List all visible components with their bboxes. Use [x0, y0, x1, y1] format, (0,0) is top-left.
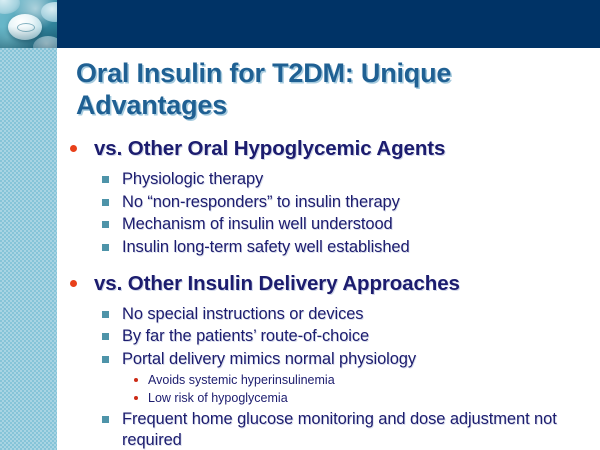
bullet-level1: vs. Other Oral Hypoglycemic Agents	[64, 136, 594, 162]
bullet-level1: vs. Other Insulin Delivery Approaches	[64, 271, 594, 297]
bullet-text: vs. Other Insulin Delivery Approaches	[94, 272, 460, 295]
bullet-text: Low risk of hypoglycemia	[148, 391, 288, 405]
bullet-level3: Avoids systemic hyperinsulinemia	[64, 372, 594, 389]
bullet-text: No “non-responders” to insulin therapy	[122, 193, 400, 211]
bullet-level2: No “non-responders” to insulin therapy	[64, 192, 594, 214]
bullet-square-icon	[102, 311, 109, 318]
bullet-text: Avoids systemic hyperinsulinemia	[148, 373, 335, 387]
slide: Oral Insulin for T2DM: Unique Advantages…	[0, 0, 600, 450]
bullet-square-icon	[102, 176, 109, 183]
bullet-text: Frequent home glucose monitoring and dos…	[122, 410, 557, 450]
bullet-square-icon	[102, 416, 109, 423]
bullet-level2: Insulin long-term safety well establishe…	[64, 237, 594, 259]
pill-bottle-caps-photo	[0, 0, 57, 48]
bullet-level2: No special instructions or devices	[64, 304, 594, 326]
bullet-dot-icon	[70, 145, 77, 152]
bullet-square-icon	[102, 244, 109, 251]
top-navy-banner	[57, 0, 600, 48]
slide-title: Oral Insulin for T2DM: Unique Advantages	[76, 58, 576, 122]
bullet-text: vs. Other Oral Hypoglycemic Agents	[94, 137, 445, 160]
bullet-level2: Physiologic therapy	[64, 169, 594, 191]
bullet-square-icon	[102, 333, 109, 340]
bullet-dot-icon	[70, 280, 77, 287]
bullet-list: vs. Other Oral Hypoglycemic Agents Physi…	[64, 136, 594, 450]
bullet-level2: By far the patients’ route-of-choice	[64, 326, 594, 348]
bullet-dot-small-icon	[134, 378, 138, 382]
bullet-text: No special instructions or devices	[122, 305, 363, 323]
bullet-level2: Portal delivery mimics normal physiology	[64, 349, 594, 371]
bullet-square-icon	[102, 199, 109, 206]
bullet-square-icon	[102, 221, 109, 228]
bullet-text: By far the patients’ route-of-choice	[122, 327, 369, 345]
bullet-dot-small-icon	[134, 396, 138, 400]
bullet-text: Portal delivery mimics normal physiology	[122, 350, 416, 368]
bullet-square-icon	[102, 356, 109, 363]
bullet-level2: Mechanism of insulin well understood	[64, 214, 594, 236]
bullet-level2: Frequent home glucose monitoring and dos…	[64, 409, 594, 450]
bullet-text: Mechanism of insulin well understood	[122, 215, 393, 233]
bullet-text: Physiologic therapy	[122, 170, 263, 188]
left-textured-sidebar	[0, 48, 57, 450]
bullet-text: Insulin long-term safety well establishe…	[122, 238, 410, 256]
photo-shading	[0, 0, 57, 48]
bullet-level3: Low risk of hypoglycemia	[64, 390, 594, 407]
